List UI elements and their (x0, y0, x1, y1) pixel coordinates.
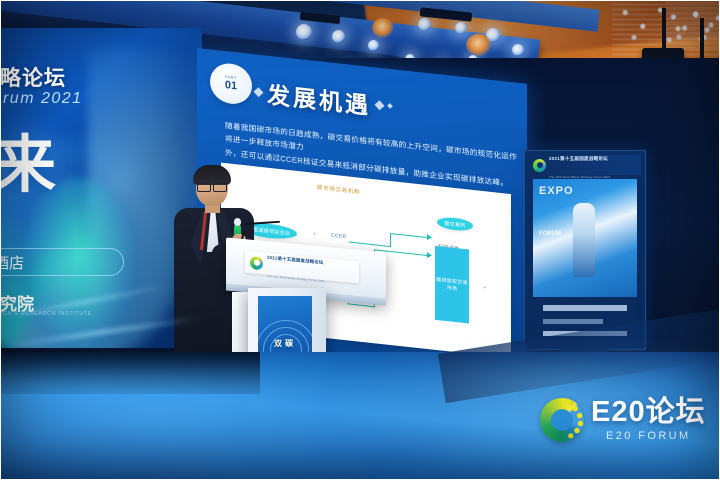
stage-light (296, 24, 312, 40)
e20-forum-watermark: E20论坛 E20 FORUM (540, 398, 706, 442)
backdrop-venue: 来国际大酒店 (0, 252, 174, 273)
diagram-plus-right: + (483, 285, 487, 291)
diagram-arrow-top (349, 242, 391, 248)
stage-light (512, 44, 524, 56)
slide-badge-number: 01 (225, 79, 237, 92)
diagram-arrow-top (390, 233, 428, 238)
diamond-bullet-icon (254, 87, 264, 97)
e20-logo-text: E20论坛 E20 FORUM (591, 398, 706, 442)
side-banner-header: 2021第十五届固废战略论坛 The 15th Solid Waste Stra… (529, 155, 641, 175)
conference-photo: 固废战略论坛 egic Forum 2021 未来 来国际大酒店 市建设研究院 … (0, 0, 720, 480)
diagram-arrowhead-bottom (427, 252, 432, 259)
side-banner-image-text-1: EXPO (539, 185, 574, 197)
diamond-bullet-icon (375, 100, 385, 110)
microphone-head (234, 218, 241, 226)
backdrop-title-en: egic Forum 2021 (0, 90, 200, 108)
glasses-icon (197, 183, 227, 190)
warm-spotlight (372, 18, 394, 38)
diagram-arrow-top (390, 233, 391, 247)
stage-light (418, 18, 431, 31)
side-banner-image: EXPO FORUM (533, 179, 637, 297)
e20-logo-icon (540, 398, 584, 442)
side-display-banner: 2021第十五届固废战略论坛 The 15th Solid Waste Stra… (524, 150, 646, 350)
forum-logo-icon (533, 159, 546, 172)
projector-mount (662, 8, 666, 50)
slide-title-row: 发展机遇 (255, 74, 392, 123)
diagram-item-top: CCER (331, 233, 346, 241)
e20-logo-title-en: E20 FORUM (591, 430, 706, 442)
side-banner-image-text-2: FORUM (539, 231, 561, 237)
forum-logo-icon (250, 256, 263, 270)
stage-light (368, 40, 379, 51)
diagram-plus-top: + (313, 232, 317, 238)
podium-logo-title-cn: 2021第十五届固废战略论坛 (267, 255, 323, 265)
stage-light (332, 30, 345, 43)
diamond-bullet-icon-small (387, 103, 393, 109)
warm-spotlight (466, 34, 492, 56)
podium-logo-title-en: The 15th Solid Waste Strategy Forum 2021 (267, 275, 325, 283)
stage-light (455, 22, 467, 34)
slide-section-badge: PART 01 (210, 61, 252, 106)
side-banner-bar-2 (543, 319, 603, 324)
e20-logo-dots (540, 398, 584, 442)
e20-logo-title-cn: E20论坛 (591, 398, 706, 427)
diagram-caption: 碳市场交易机制 (317, 183, 360, 196)
slide-title: 发展机遇 (267, 76, 371, 121)
chandelier (665, 2, 720, 52)
backdrop-title-cn: 固废战略论坛 (0, 62, 194, 92)
speaker-hair (193, 165, 231, 185)
side-banner-bar-1 (543, 305, 627, 311)
diagram-node-target: 碳交易所 (437, 216, 473, 232)
side-banner-title-cn: 2021第十五届固废战略论坛 (549, 156, 608, 161)
side-banner-figure (573, 203, 595, 277)
diagram-market-box: 碳排放权交易市场 (435, 246, 469, 324)
diagram-arrowhead-top (427, 234, 432, 241)
podium-panel-text: 双碳 (258, 338, 312, 349)
